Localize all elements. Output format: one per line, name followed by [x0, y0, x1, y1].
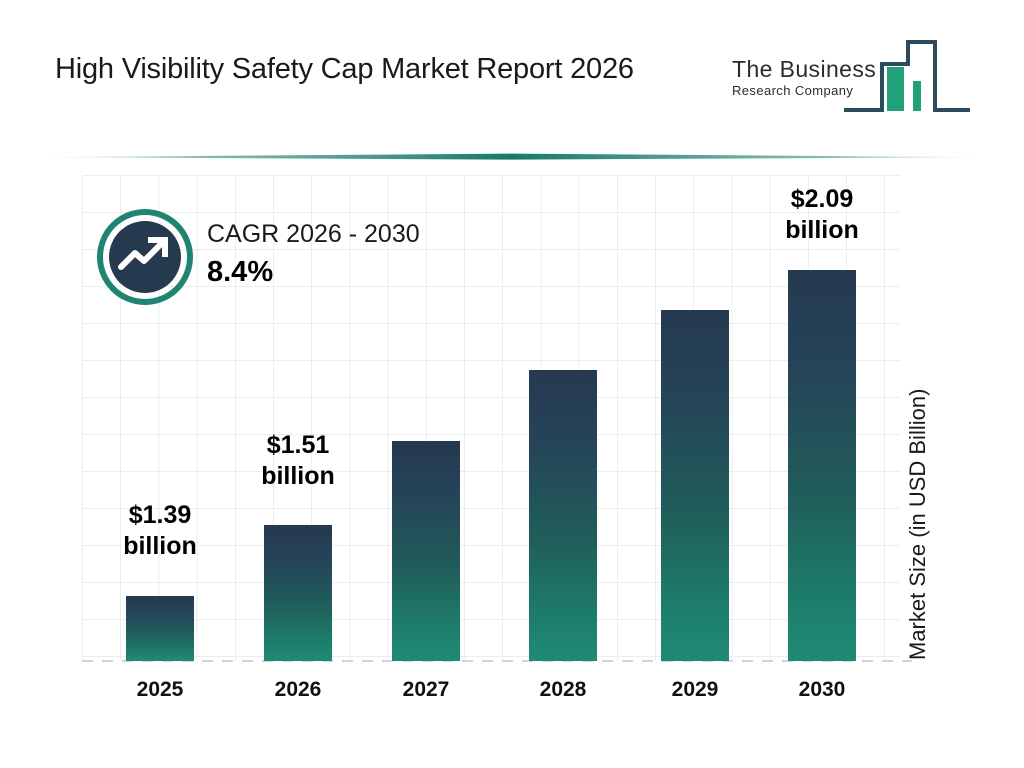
xtick-2027: 2027: [371, 678, 481, 702]
y-axis-title: Market Size (in USD Billion): [905, 389, 931, 660]
cagr-label: CAGR 2026 - 2030: [207, 218, 420, 250]
bar-label-2026-unit: billion: [233, 461, 363, 492]
xtick-2025: 2025: [105, 678, 215, 702]
y-axis-title-wrap: Market Size (in USD Billion): [905, 660, 1024, 686]
bar-label-2030: $2.09 billion: [757, 184, 887, 246]
cagr-annotation: CAGR 2026 - 2030 8.4%: [207, 218, 420, 290]
header-divider: [34, 153, 990, 161]
bar-label-2030-unit: billion: [757, 215, 887, 246]
chart-page: High Visibility Safety Cap Market Report…: [0, 0, 1024, 768]
bar-label-2025-unit: billion: [95, 531, 225, 562]
bar-2029[interactable]: [661, 310, 729, 661]
bar-2026[interactable]: [264, 525, 332, 661]
xtick-2029: 2029: [640, 678, 750, 702]
chart-plot-area: [82, 175, 900, 661]
bar-2027[interactable]: [392, 441, 460, 661]
cagr-value: 8.4%: [207, 254, 420, 290]
xtick-2026: 2026: [243, 678, 353, 702]
bar-label-2025-amount: $1.39: [95, 500, 225, 531]
bar-2030[interactable]: [788, 270, 856, 661]
xtick-2030: 2030: [767, 678, 877, 702]
bar-label-2025: $1.39 billion: [95, 500, 225, 562]
bar-label-2026-amount: $1.51: [233, 430, 363, 461]
cagr-badge-icon: [97, 209, 193, 305]
bar-label-2026: $1.51 billion: [233, 430, 363, 492]
bar-chart-outline-logo-icon: [842, 34, 972, 120]
xtick-2028: 2028: [508, 678, 618, 702]
bar-label-2030-amount: $2.09: [757, 184, 887, 215]
bar-2025[interactable]: [126, 596, 194, 661]
page-title: High Visibility Safety Cap Market Report…: [55, 48, 695, 90]
bar-2028[interactable]: [529, 370, 597, 661]
company-logo: The Business Research Company: [732, 34, 972, 126]
